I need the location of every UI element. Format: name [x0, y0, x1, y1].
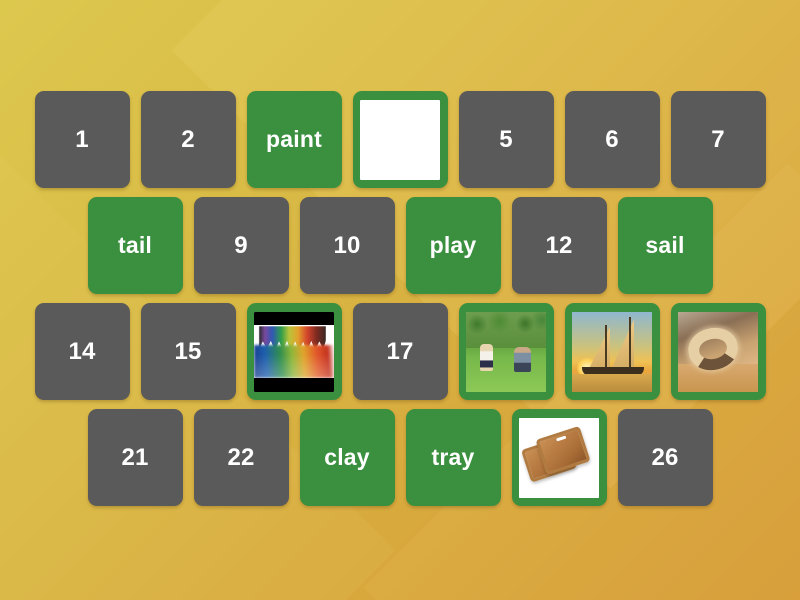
tile-label: 9: [234, 234, 248, 258]
game-tile-1[interactable]: 1: [35, 91, 130, 188]
tile-label: clay: [324, 446, 370, 469]
game-tile-18[interactable]: [459, 303, 554, 400]
tile-row: tail 9 10 play 12 sail: [88, 197, 713, 294]
tile-label: 12: [545, 234, 572, 258]
tile-row: 21 22 clay tray 26: [88, 409, 713, 506]
hands-shaping-clay-image: [360, 100, 440, 180]
game-tile-20[interactable]: [671, 303, 766, 400]
tile-label: sail: [645, 234, 684, 257]
tile-label: 2: [181, 128, 195, 152]
game-tile-23[interactable]: clay: [300, 409, 395, 506]
game-tile-19[interactable]: [565, 303, 660, 400]
game-tile-26[interactable]: 26: [618, 409, 713, 506]
tile-label: 10: [333, 234, 360, 258]
dog-curled-tail-image: [678, 312, 758, 392]
tile-label: 21: [121, 446, 148, 470]
game-tile-24[interactable]: tray: [406, 409, 501, 506]
tile-label: paint: [266, 128, 322, 151]
game-tile-13[interactable]: sail: [618, 197, 713, 294]
tile-label: 7: [711, 128, 725, 152]
game-tile-10[interactable]: 10: [300, 197, 395, 294]
tile-label: tray: [432, 446, 475, 469]
game-tile-21[interactable]: 21: [88, 409, 183, 506]
matching-game-board: 1 2 paint 5 6 7 tail 9 10: [0, 0, 800, 600]
tile-label: 26: [651, 446, 678, 470]
game-tile-6[interactable]: 6: [565, 91, 660, 188]
tile-label: 22: [227, 446, 254, 470]
tile-row: 14 15 17: [35, 303, 766, 400]
game-tile-7[interactable]: 7: [671, 91, 766, 188]
game-tile-12[interactable]: 12: [512, 197, 607, 294]
game-tile-8[interactable]: tail: [88, 197, 183, 294]
game-tile-15[interactable]: 15: [141, 303, 236, 400]
tile-label: 6: [605, 128, 619, 152]
game-tile-16[interactable]: [247, 303, 342, 400]
game-tile-5[interactable]: 5: [459, 91, 554, 188]
tile-label: 17: [386, 340, 413, 364]
game-tile-17[interactable]: 17: [353, 303, 448, 400]
game-tile-11[interactable]: play: [406, 197, 501, 294]
game-tile-22[interactable]: 22: [194, 409, 289, 506]
tile-label: tail: [118, 234, 152, 257]
tile-label: 5: [499, 128, 513, 152]
game-tile-2[interactable]: 2: [141, 91, 236, 188]
sailboat-at-sunset-image: [572, 312, 652, 392]
tile-label: 1: [75, 128, 89, 152]
game-tile-25[interactable]: [512, 409, 607, 506]
tile-row: 1 2 paint 5 6 7: [35, 91, 766, 188]
children-playing-ball-image: [466, 312, 546, 392]
game-tile-9[interactable]: 9: [194, 197, 289, 294]
rainbow-melted-paint-image: [254, 312, 334, 392]
game-tile-14[interactable]: 14: [35, 303, 130, 400]
tile-label: play: [430, 234, 477, 257]
tile-label: 14: [68, 340, 95, 364]
game-tile-3[interactable]: paint: [247, 91, 342, 188]
game-tile-4[interactable]: [353, 91, 448, 188]
tile-label: 15: [174, 340, 201, 364]
wooden-serving-trays-image: [519, 418, 599, 498]
